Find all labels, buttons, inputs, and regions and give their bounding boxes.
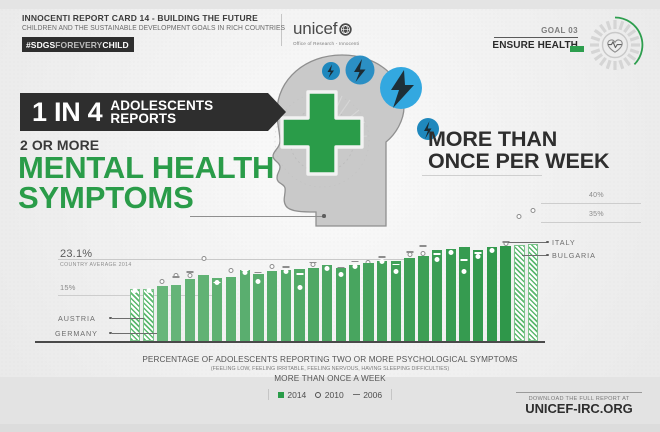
bar-group (224, 191, 238, 341)
marker-2010 (352, 264, 357, 269)
bar-2014 (308, 268, 318, 341)
marker-2010 (297, 285, 302, 290)
average-reference-line (58, 259, 408, 260)
marker-2010 (187, 273, 192, 278)
marker-2006 (406, 251, 413, 253)
bar-2014 (500, 246, 510, 341)
tick-35-line (541, 222, 641, 223)
unicef-globe-icon (339, 22, 352, 40)
callout-label-germany: GERMANY (55, 329, 98, 338)
callout-line-bulgaria (522, 255, 548, 256)
goal-number: GOAL 03 (492, 26, 578, 35)
bar-2014 (185, 279, 195, 342)
marker-2006 (392, 264, 399, 266)
bar-2014 (432, 250, 442, 341)
callout-label-italy: ITALY (552, 238, 576, 247)
top-band (0, 0, 660, 9)
bar-group (197, 191, 211, 341)
marker-2010 (448, 250, 453, 255)
legend-circle-icon (315, 392, 321, 398)
headline-ratio: 1 IN 4 (32, 99, 102, 126)
caption-line-3: MORE THAN ONCE A WEEK (0, 374, 660, 383)
bar-2014 (528, 244, 538, 342)
marker-2006 (379, 256, 386, 258)
bar-2014 (459, 247, 469, 341)
legend-label-2006: 2006 (363, 390, 382, 400)
bar-2014 (336, 268, 346, 341)
marker-2010 (407, 252, 412, 257)
marker-2010 (489, 248, 494, 253)
unicef-word-text: unicef (293, 19, 337, 38)
headline-green-line2: SYMPTOMS (18, 183, 274, 213)
tick-40-line (541, 203, 641, 204)
marker-2010 (338, 272, 343, 277)
callout-dot-italy (546, 241, 549, 244)
bar-2014 (226, 277, 236, 341)
chart-baseline (35, 341, 545, 343)
right-headline-rule (422, 175, 542, 176)
marker-2006 (337, 267, 344, 269)
report-header: INNOCENTI REPORT CARD 14 - BUILDING THE … (22, 13, 272, 53)
marker-2006 (351, 261, 358, 263)
marker-2010 (270, 264, 275, 269)
legend-dash-icon (353, 394, 360, 396)
callout-dot-germany (109, 332, 112, 335)
headline-green: MENTAL HEALTH SYMPTOMS (18, 153, 274, 213)
bar-2014 (198, 275, 208, 341)
bar-2014 (349, 265, 359, 341)
bar-2014 (322, 265, 332, 341)
goal-name: ENSURE HEALTH (492, 40, 578, 51)
bar-group (499, 191, 513, 341)
tick-15-label: 15% (60, 283, 76, 292)
callout-line-italy (508, 242, 548, 243)
legend-divider-left (268, 389, 269, 400)
callout-line-austria (112, 318, 144, 319)
hashtag-part-3: CHILD (102, 40, 128, 50)
tick-15-line (58, 295, 220, 296)
bar-2014 (446, 249, 456, 341)
marker-2006 (475, 252, 482, 254)
callout-label-austria: AUSTRIA (58, 314, 96, 323)
bar-2014 (391, 261, 401, 341)
callout-dot-austria (109, 317, 112, 320)
legend-label-2010: 2010 (325, 390, 344, 400)
marker-2010 (283, 269, 288, 274)
unicef-wordmark: unicef (293, 20, 359, 40)
tick-35-label: 35% (589, 211, 604, 218)
download-rule (516, 392, 642, 393)
marker-2010 (146, 288, 151, 293)
callout-label-bulgaria: BULGARIA (552, 251, 596, 260)
legend-label-2014: 2014 (287, 390, 306, 400)
bar-2014 (294, 269, 304, 341)
report-title: INNOCENTI REPORT CARD 14 - BUILDING THE … (22, 13, 272, 24)
bar-2014 (473, 250, 483, 341)
marker-2006 (461, 259, 468, 261)
headline-green-line1: MENTAL HEALTH (18, 153, 274, 183)
tick-40-label: 40% (589, 192, 604, 199)
report-subtitle: CHILDREN AND THE SUSTAINABLE DEVELOPMENT… (22, 24, 262, 34)
marker-2010 (531, 208, 536, 213)
infographic-poster: INNOCENTI REPORT CARD 14 - BUILDING THE … (0, 0, 660, 432)
marker-2010 (325, 266, 330, 271)
bar-group (458, 191, 472, 341)
marker-2010 (380, 259, 385, 264)
marker-2006 (214, 282, 221, 284)
headline-banner-small-line2: REPORTS (110, 112, 213, 125)
bar-2014 (157, 286, 167, 341)
bar-2014 (171, 285, 181, 341)
headline-right-line1: MORE THAN (428, 128, 609, 150)
download-url[interactable]: UNICEF-IRC.ORG (516, 402, 642, 416)
goal-badge-text: GOAL 03 ENSURE HEALTH (492, 26, 578, 51)
bar-2014 (143, 289, 153, 341)
hashtag-part-2: FOREVERY (55, 40, 102, 50)
marker-2010 (311, 262, 316, 267)
bar-2014 (363, 263, 373, 341)
marker-2006 (173, 276, 180, 278)
caption-line-1: PERCENTAGE OF ADOLESCENTS REPORTING TWO … (0, 355, 660, 364)
marker-2006 (186, 271, 193, 273)
bar-2014 (487, 247, 497, 341)
bar-2014 (267, 271, 277, 341)
head-illustration (246, 52, 446, 232)
unicef-office-label: Office of Research - Innocenti (293, 41, 359, 46)
marker-2010 (435, 257, 440, 262)
headline-right: MORE THAN ONCE PER WEEK (428, 128, 609, 172)
callout-line-germany (112, 333, 157, 334)
hashtag-badge: #SDGSFOREVERYCHILD (22, 37, 134, 52)
bar-group (471, 191, 485, 341)
bar-2014 (377, 261, 387, 341)
marker-2010 (215, 280, 220, 285)
average-value-label: 23.1% (60, 248, 92, 260)
marker-2010 (201, 256, 206, 261)
marker-2010 (421, 251, 426, 256)
bar-2014 (404, 258, 414, 341)
bar-group (513, 191, 527, 341)
marker-2010 (476, 254, 481, 259)
bar-group (485, 191, 499, 341)
marker-2010 (132, 288, 137, 293)
goal-rule (494, 37, 578, 38)
goal-accent-dash (570, 46, 584, 52)
bar-2014 (281, 270, 291, 341)
legend-divider-right (391, 389, 392, 400)
marker-2010 (242, 270, 247, 275)
marker-2006 (282, 266, 289, 268)
bar-2014 (418, 256, 428, 341)
bar-2014 (212, 278, 222, 341)
callout-dot-bulgaria (546, 254, 549, 257)
marker-2010 (160, 279, 165, 284)
hashtag-part-1: #SDGS (26, 40, 55, 50)
bar-2014 (130, 289, 140, 341)
download-callout[interactable]: DOWNLOAD THE FULL REPORT AT UNICEF-IRC.O… (516, 392, 642, 416)
average-caption-label: COUNTRY AVERAGE 2014 (60, 262, 132, 268)
marker-2010 (517, 214, 522, 219)
chart-caption: PERCENTAGE OF ADOLESCENTS REPORTING TWO … (0, 355, 660, 383)
legend-item-2014: 2014 (278, 390, 306, 400)
marker-2010 (229, 268, 234, 273)
marker-2010 (462, 269, 467, 274)
headline-pointer-line (190, 216, 325, 217)
legend-square-icon (278, 392, 284, 398)
marker-2006 (255, 272, 262, 274)
marker-2010 (256, 279, 261, 284)
headline-right-line2: ONCE PER WEEK (428, 150, 609, 172)
marker-2006 (434, 253, 441, 255)
marker-2010 (174, 273, 179, 278)
marker-2006 (310, 262, 317, 264)
bottom-band (0, 424, 660, 432)
unicef-logo: unicef Office of Research - Innocenti (293, 20, 359, 46)
legend-item-2006: 2006 (353, 390, 382, 400)
bar-2014 (240, 270, 250, 341)
bar-group (210, 191, 224, 341)
caption-line-2: (FEELING LOW, FEELING IRRITABLE, FEELING… (0, 366, 660, 372)
headline-pointer-dot (322, 214, 326, 218)
headline-banner-small: ADOLESCENTS REPORTS (110, 99, 213, 125)
marker-2010 (393, 269, 398, 274)
bar-group (526, 191, 540, 341)
marker-2006 (420, 245, 427, 247)
goal-gauge-icon (584, 16, 646, 79)
marker-2006 (241, 270, 248, 272)
bar-2014 (514, 245, 524, 341)
goal-badge: GOAL 03 ENSURE HEALTH (472, 16, 642, 72)
bar-2014 (253, 274, 263, 341)
legend-item-2010: 2010 (315, 390, 343, 400)
marker-2010 (366, 260, 371, 265)
marker-2006 (296, 273, 303, 275)
marker-2006 (502, 241, 509, 243)
marker-2010 (503, 241, 508, 246)
headline-banner: 1 IN 4 ADOLESCENTS REPORTS (20, 93, 268, 131)
